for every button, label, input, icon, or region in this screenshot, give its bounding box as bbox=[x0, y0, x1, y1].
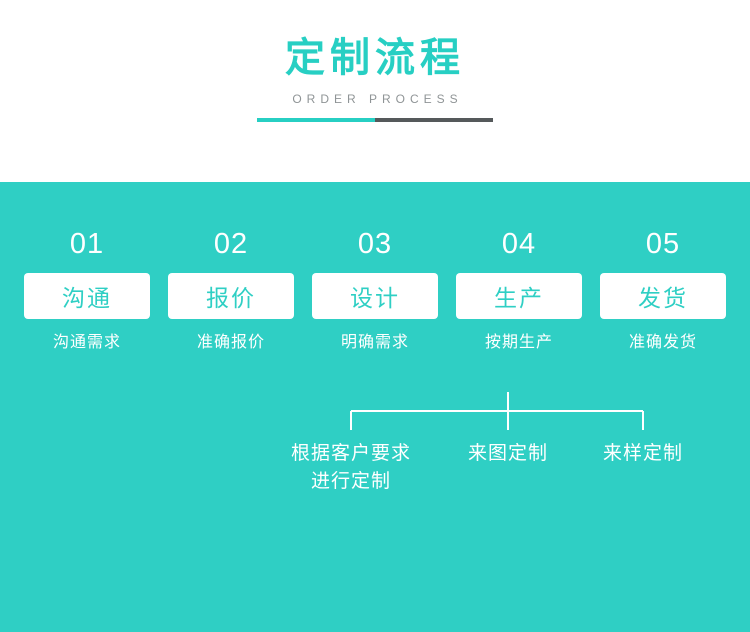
step-item: 04 生产 按期生产 bbox=[456, 230, 582, 352]
step-item: 02 报价 准确报价 bbox=[168, 230, 294, 352]
step-item: 03 设计 明确需求 bbox=[312, 230, 438, 352]
sublabel-custom-by-request: 根据客户要求 进行定制 bbox=[251, 440, 451, 495]
step-label-box: 发货 bbox=[600, 273, 726, 319]
underline-segment-left bbox=[257, 118, 375, 122]
step-number: 01 bbox=[70, 230, 104, 259]
step-number: 05 bbox=[646, 230, 680, 259]
step-label-box: 生产 bbox=[456, 273, 582, 319]
order-process-infographic: 定制流程 ORDER PROCESS 01 沟通 沟通需求 02 报价 准确报价… bbox=[0, 0, 750, 632]
page-subtitle: ORDER PROCESS bbox=[287, 92, 462, 106]
step-number: 02 bbox=[214, 230, 248, 259]
step-description: 准确发货 bbox=[629, 333, 697, 352]
step-description: 按期生产 bbox=[485, 333, 553, 352]
step-description: 沟通需求 bbox=[53, 333, 121, 352]
title-underline bbox=[257, 118, 493, 122]
step-item: 01 沟通 沟通需求 bbox=[24, 230, 150, 352]
step-number: 04 bbox=[502, 230, 536, 259]
underline-segment-right bbox=[375, 118, 493, 122]
step-number: 03 bbox=[358, 230, 392, 259]
step-label-box: 沟通 bbox=[24, 273, 150, 319]
step-description: 准确报价 bbox=[197, 333, 265, 352]
steps-row: 01 沟通 沟通需求 02 报价 准确报价 03 设计 明确需求 04 生产 按… bbox=[0, 230, 750, 352]
step-description: 明确需求 bbox=[341, 333, 409, 352]
header: 定制流程 ORDER PROCESS bbox=[0, 0, 750, 182]
sublabel-custom-by-sample: 来样定制 bbox=[563, 440, 723, 468]
step-item: 05 发货 准确发货 bbox=[600, 230, 726, 352]
step-label-box: 设计 bbox=[312, 273, 438, 319]
sublabels-group: 根据客户要求 进行定制 来图定制 来样定制 bbox=[0, 440, 750, 530]
step-label-box: 报价 bbox=[168, 273, 294, 319]
process-panel: 01 沟通 沟通需求 02 报价 准确报价 03 设计 明确需求 04 生产 按… bbox=[0, 182, 750, 632]
page-title: 定制流程 bbox=[285, 36, 465, 80]
